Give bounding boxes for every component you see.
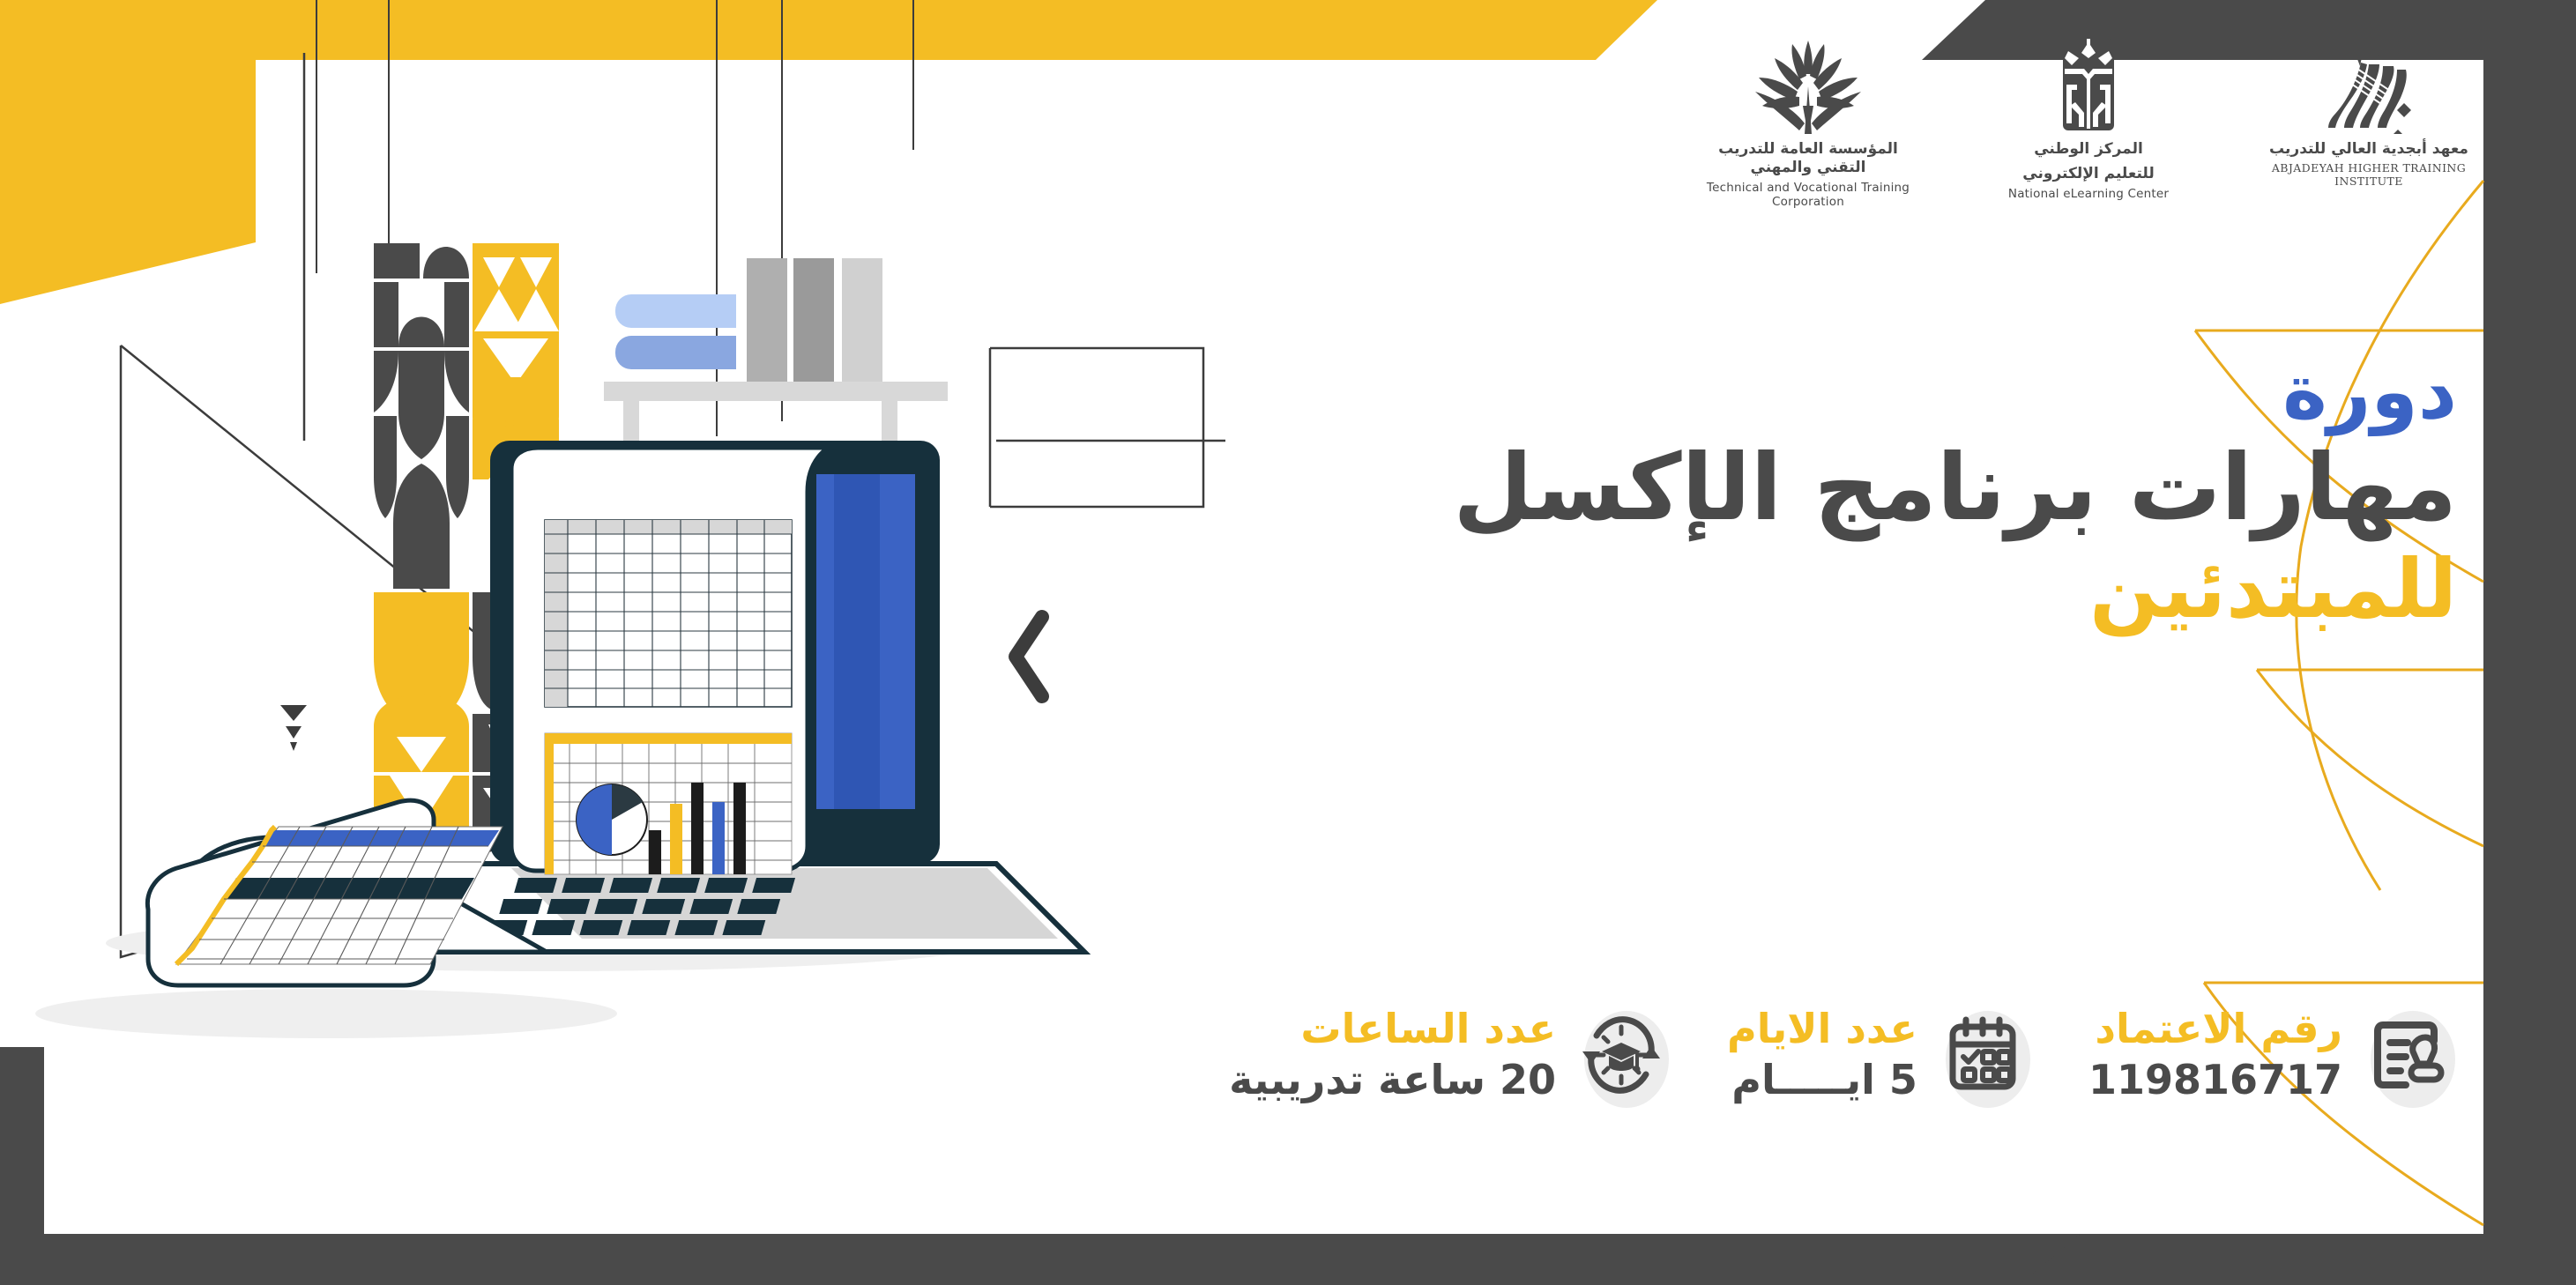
hanging-thread <box>912 0 914 150</box>
pie-chart <box>577 784 647 855</box>
printed-report-sheet <box>511 448 829 871</box>
hanging-thread <box>388 0 390 264</box>
dark-gray-book <box>793 258 834 382</box>
logo-abjadeyah-english: ABJADEYAH HIGHER TRAINING INSTITUTE <box>2263 161 2475 188</box>
laptop-base-shade <box>511 868 1058 939</box>
calendar-check-icon <box>1933 1006 2032 1104</box>
info-item-accreditation: رقم الاعتماد 119816717 <box>2088 1006 2457 1104</box>
geometric-pattern-columns <box>374 243 559 843</box>
hanging-thread <box>316 0 317 273</box>
promotional-banner: معهد أبجدية العالي للتدريب ABJADEYAH HIG… <box>0 0 2576 1285</box>
certificate-stamp-icon <box>2358 1006 2457 1104</box>
info-item-days: عدد الايام 5 ايـــــام <box>1727 1006 2032 1104</box>
logo-abjadeyah-arabic: معهد أبجدية العالي للتدريب <box>2269 140 2468 159</box>
keyboard-grid <box>176 827 503 964</box>
top-left-yellow-corner <box>0 0 256 304</box>
course-info-strip: رقم الاعتماد 119816717 <box>1229 1006 2457 1104</box>
keyboard-dark-row <box>224 878 474 899</box>
pale-gray-book <box>842 258 882 382</box>
logo-nelc: المركز الوطني للتعليم الإلكتروني Nationa… <box>1983 46 2194 201</box>
spreadsheet-table <box>545 520 792 707</box>
shelf-leg <box>623 401 639 459</box>
headline-sub: للمبتدئين <box>1311 543 2457 636</box>
headline-main: مهارات برنامج الإكسل <box>1311 435 2457 541</box>
screen-accent-right <box>816 474 915 809</box>
logo-tvtc-english: Technical and Vocational Training Corpor… <box>1702 181 1914 209</box>
computer-mouse <box>185 837 547 952</box>
logo-abjadeyah: معهد أبجدية العالي للتدريب ABJADEYAH HIG… <box>2263 46 2475 188</box>
right-dark-bar <box>2483 0 2576 1285</box>
headline-kicker: دورة <box>1311 353 2457 432</box>
bar-chart <box>649 783 746 874</box>
abjadeyah-calligraphy-logo-icon <box>2316 46 2422 134</box>
logo-tvtc: المؤسسة العامة للتدريب التقني والمهني Te… <box>1702 46 1914 209</box>
bottom-right-dark-band <box>2019 1234 2576 1285</box>
nelc-ornament-logo-icon <box>2058 46 2119 134</box>
info-value-days: 5 ايـــــام <box>1727 1057 1917 1103</box>
shelf-leg <box>882 401 897 459</box>
chart-area <box>545 733 792 874</box>
gray-square-accent <box>592 441 617 465</box>
info-item-hours: عدد الساعات 20 ساعة تدريبية <box>1229 1006 1671 1104</box>
info-value-hours: 20 ساعة تدريبية <box>1229 1057 1556 1103</box>
shelf-plank <box>604 382 948 401</box>
screen-accent-right-dark <box>834 474 880 809</box>
logo-tvtc-arabic: المؤسسة العامة للتدريب التقني والمهني <box>1702 140 1914 178</box>
logo-nelc-arabic-line1: المركز الوطني <box>2034 140 2143 159</box>
laptop-keyboard <box>484 878 795 935</box>
bottom-left-dark-corner <box>0 1047 44 1285</box>
tvtc-palm-logo-icon <box>1746 46 1870 134</box>
light-blue-book <box>615 294 736 328</box>
info-value-accreditation: 119816717 <box>2088 1057 2342 1103</box>
blue-book <box>615 336 736 369</box>
logo-row: معهد أبجدية العالي للتدريب ABJADEYAH HIG… <box>1702 46 2475 209</box>
gray-book <box>747 258 787 382</box>
keyboard-shadow <box>35 989 617 1038</box>
logo-nelc-english: National eLearning Center <box>2008 187 2169 201</box>
logo-nelc-arabic-line2: للتعليم الإلكتروني <box>2022 165 2154 183</box>
info-label-hours: عدد الساعات <box>1229 1006 1556 1051</box>
info-label-days: عدد الايام <box>1727 1006 1917 1051</box>
laptop-spreadsheet-illustration <box>53 423 1128 987</box>
ground-shadow <box>106 915 987 971</box>
hanging-thread <box>716 0 718 436</box>
info-label-accreditation: رقم الاعتماد <box>2088 1006 2342 1051</box>
headline-block: دورة مهارات برنامج الإكسل للمبتدئين <box>1311 353 2457 636</box>
laptop-base <box>344 864 1084 952</box>
clock-graduation-cap-icon <box>1572 1006 1671 1104</box>
